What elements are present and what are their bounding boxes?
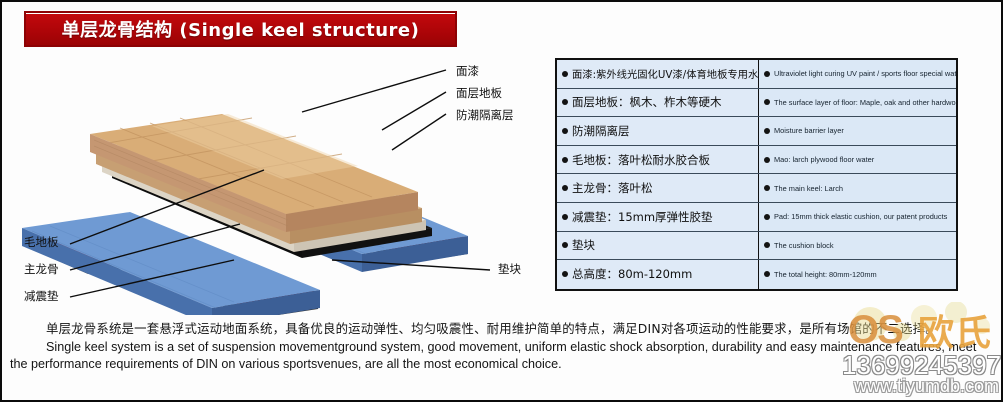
- spec-en-text: The surface layer of floor: Maple, oak a…: [774, 98, 956, 107]
- spec-cn-text: 防潮隔离层: [572, 123, 630, 139]
- callout-top-coat: 面漆: [456, 63, 479, 79]
- bullet-icon: [562, 128, 568, 134]
- bullet-icon: [562, 157, 568, 163]
- table-cell-cn: 减震垫：15mm厚弹性胶垫: [557, 203, 759, 231]
- table-row: 面层地板：枫木、柞木等硬木 The surface layer of floor…: [557, 89, 956, 118]
- spec-en-text: Moisture barrier layer: [774, 126, 844, 135]
- table-cell-cn: 面层地板：枫木、柞木等硬木: [557, 89, 759, 117]
- table-row: 防潮隔离层 Moisture barrier layer: [557, 117, 956, 146]
- spec-cn-text: 面层地板：枫木、柞木等硬木: [572, 94, 722, 110]
- table-row: 主龙骨：落叶松 The main keel: Larch: [557, 174, 956, 203]
- table-cell-cn: 面漆:紫外线光固化UV漆/体育地板专用水性漆: [557, 60, 759, 88]
- table-row: 面漆:紫外线光固化UV漆/体育地板专用水性漆 Ultraviolet light…: [557, 60, 956, 89]
- table-cell-cn: 垫块: [557, 232, 759, 260]
- description-en-text: Single keel system is a set of suspensio…: [10, 340, 976, 371]
- table-row: 毛地板：落叶松耐水胶合板 Mao: larch plywood floor wa…: [557, 146, 956, 175]
- table-cell-en: The surface layer of floor: Maple, oak a…: [759, 89, 956, 117]
- spec-en-text: The cushion block: [774, 241, 834, 250]
- bullet-icon: [562, 214, 568, 220]
- table-cell-en: Moisture barrier layer: [759, 117, 956, 145]
- page-root: 单层龙骨结构 (Single keel structure): [0, 0, 1003, 402]
- table-cell-cn: 总高度：80m-120mm: [557, 260, 759, 289]
- callout-moisture-layer: 防潮隔离层: [456, 107, 514, 123]
- table-cell-en: The total height: 80mm-120mm: [759, 260, 956, 289]
- table-row: 垫块 The cushion block: [557, 232, 956, 261]
- table-row: 减震垫：15mm厚弹性胶垫 Pad: 15mm thick elastic cu…: [557, 203, 956, 232]
- page-title-banner: 单层龙骨结构 (Single keel structure): [24, 11, 457, 47]
- table-cell-en: Ultraviolet light curing UV paint / spor…: [759, 60, 956, 88]
- table-cell-en: Pad: 15mm thick elastic cushion, our pat…: [759, 203, 956, 231]
- spec-cn-text: 面漆:紫外线光固化UV漆/体育地板专用水性漆: [572, 66, 779, 81]
- bullet-icon: [562, 242, 568, 248]
- bullet-icon: [764, 99, 770, 105]
- bullet-icon: [764, 128, 770, 134]
- spec-en-text: The total height: 80mm-120mm: [774, 270, 877, 279]
- table-cell-en: The cushion block: [759, 232, 956, 260]
- specification-table: 面漆:紫外线光固化UV漆/体育地板专用水性漆 Ultraviolet light…: [555, 58, 958, 291]
- bullet-icon: [764, 214, 770, 220]
- bullet-icon: [562, 71, 568, 77]
- table-cell-cn: 毛地板：落叶松耐水胶合板: [557, 146, 759, 174]
- table-cell-cn: 主龙骨：落叶松: [557, 174, 759, 202]
- bullet-icon: [562, 271, 568, 277]
- description-paragraph-en: Single keel system is a set of suspensio…: [10, 339, 995, 373]
- spec-cn-text: 总高度：80m-120mm: [572, 266, 692, 282]
- spec-cn-text: 减震垫：15mm厚弹性胶垫: [572, 209, 713, 225]
- description-cn-text: 单层龙骨系统是一套悬浮式运动地面系统，具备优良的运动弹性、均匀吸震性、耐用维护简…: [46, 321, 938, 336]
- spec-cn-text: 主龙骨：落叶松: [572, 180, 653, 196]
- spec-cn-text: 垫块: [572, 237, 595, 253]
- table-cell-cn: 防潮隔离层: [557, 117, 759, 145]
- bullet-icon: [562, 185, 568, 191]
- table-cell-en: The main keel: Larch: [759, 174, 956, 202]
- watermark-url: www.tiyumdb.com: [854, 376, 999, 397]
- bullet-icon: [764, 242, 770, 248]
- callout-shock-pad: 减震垫: [24, 288, 59, 304]
- bullet-icon: [764, 271, 770, 277]
- callout-main-keel: 主龙骨: [24, 261, 59, 277]
- bullet-icon: [764, 185, 770, 191]
- spec-en-text: Ultraviolet light curing UV paint / spor…: [774, 69, 956, 78]
- description-paragraph-cn: 单层龙骨系统是一套悬浮式运动地面系统，具备优良的运动弹性、均匀吸震性、耐用维护简…: [10, 320, 995, 338]
- table-cell-en: Mao: larch plywood floor water: [759, 146, 956, 174]
- spec-en-text: Mao: larch plywood floor water: [774, 155, 874, 164]
- bullet-icon: [562, 99, 568, 105]
- spec-en-text: The main keel: Larch: [774, 184, 843, 193]
- bullet-icon: [764, 71, 770, 77]
- callout-cushion-block: 垫块: [498, 261, 521, 277]
- page-title: 单层龙骨结构 (Single keel structure): [62, 16, 420, 42]
- callout-plywood: 毛地板: [24, 234, 59, 250]
- description-block: 单层龙骨系统是一套悬浮式运动地面系统，具备优良的运动弹性、均匀吸震性、耐用维护简…: [10, 320, 995, 374]
- bullet-icon: [764, 157, 770, 163]
- spec-cn-text: 毛地板：落叶松耐水胶合板: [572, 152, 710, 168]
- spec-en-text: Pad: 15mm thick elastic cushion, our pat…: [774, 212, 947, 221]
- callout-surface-floor: 面层地板: [456, 85, 502, 101]
- table-row: 总高度：80m-120mm The total height: 80mm-120…: [557, 260, 956, 289]
